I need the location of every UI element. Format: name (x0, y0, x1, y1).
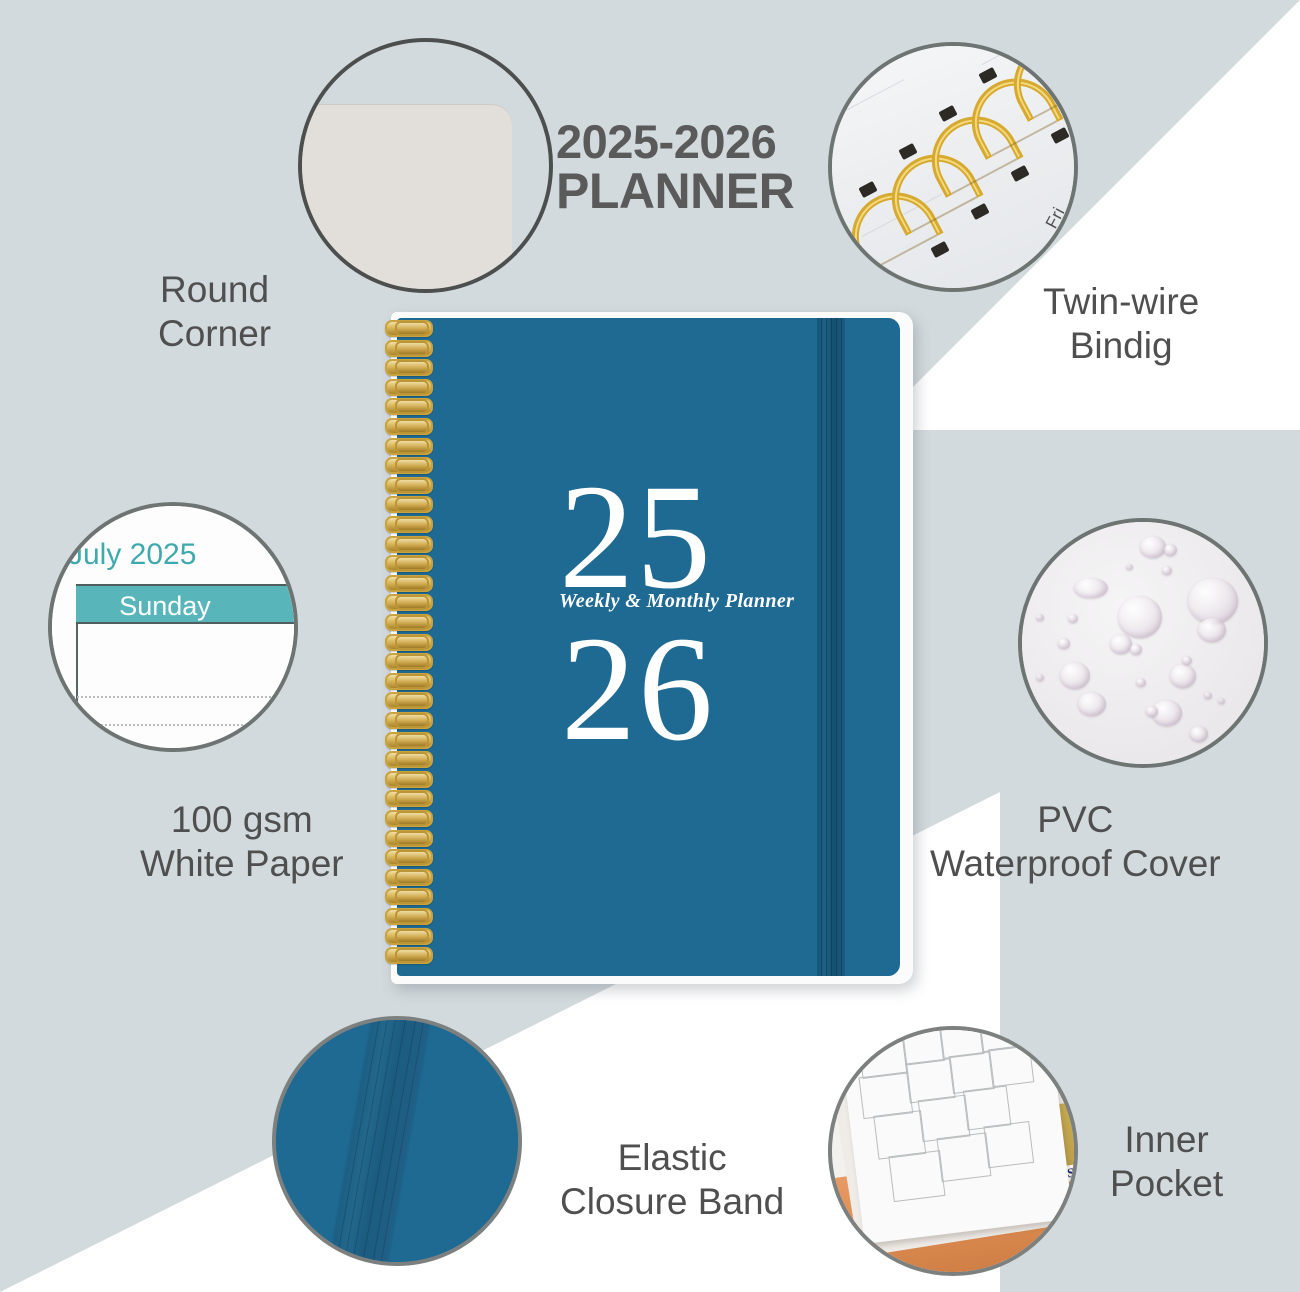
binding-coil (385, 908, 429, 921)
binding-coil (385, 418, 429, 431)
calendar-month-label: July 2025 (68, 538, 196, 572)
binding-coil (385, 692, 429, 705)
coil-inner-ring (395, 576, 429, 591)
binding-coil (385, 771, 429, 784)
coil-inner-ring (395, 831, 429, 846)
coil-inner-ring (395, 537, 429, 552)
coil-inner-ring (395, 870, 429, 885)
callout-circle-inner-pocket: VISA (828, 1026, 1078, 1276)
coil-inner-ring (395, 458, 429, 473)
coil-inner-ring (395, 497, 429, 512)
coil-inner-ring (395, 948, 429, 963)
binding-coil (385, 516, 429, 529)
binding-coil (385, 496, 429, 509)
infographic-canvas: Fri 27 July 2025 Sunday (0, 0, 1300, 1292)
coil-inner-ring (395, 909, 429, 924)
callout-circle-twin-wire-binding: Fri 27 (828, 42, 1078, 292)
binding-coil (385, 712, 429, 725)
coil-inner-ring (395, 380, 429, 395)
coil-inner-ring (395, 556, 429, 571)
binding-coil (385, 810, 429, 823)
coil-inner-ring (395, 595, 429, 610)
binding-coil (385, 614, 429, 627)
binding-coil (385, 457, 429, 470)
planner-twin-wire-binding (383, 320, 431, 974)
map-page (837, 1026, 1073, 1244)
callout-circle-round-corner (298, 38, 553, 293)
calendar-dotted-rule (62, 696, 294, 698)
coil-inner-ring (395, 772, 429, 787)
water-droplets-icon (1022, 522, 1264, 764)
calendar-page-icon: July 2025 Sunday (52, 506, 294, 748)
planner-elastic-band (817, 318, 845, 976)
coil-inner-ring (395, 419, 429, 434)
coil-inner-ring (395, 929, 429, 944)
coil-inner-ring (395, 635, 429, 650)
binding-coil (385, 438, 429, 451)
coil-inner-ring (395, 341, 429, 356)
coil-inner-ring (395, 615, 429, 630)
page-title: 2025-2026 PLANNER (556, 118, 794, 217)
binding-coil (385, 653, 429, 666)
callout-circle-elastic-closure (272, 1016, 522, 1266)
feature-label-inner-pocket: Inner Pocket (1110, 1118, 1223, 1205)
feature-label-white-paper: 100 gsm White Paper (140, 798, 344, 885)
coil-inner-ring (395, 693, 429, 708)
title-line-2: PLANNER (556, 166, 794, 217)
coil-inner-ring (395, 811, 429, 826)
feature-label-twin-wire: Twin-wire Bindig (1043, 280, 1199, 367)
binding-coil (385, 830, 429, 843)
feature-label-elastic-band: Elastic Closure Band (560, 1136, 784, 1223)
callout-circle-white-paper: July 2025 Sunday (48, 502, 298, 752)
coil-inner-ring (395, 399, 429, 414)
coil-inner-ring (395, 654, 429, 669)
binding-coil (385, 359, 429, 372)
cover-year-bottom: 26 (561, 614, 715, 764)
calendar-day-header: Sunday (76, 584, 298, 624)
binding-coil (385, 575, 429, 588)
planner-product-image: 25 Weekly & Monthly Planner 26 (383, 312, 913, 984)
coil-inner-ring (395, 517, 429, 532)
binding-coil (385, 888, 429, 901)
binding-coil (385, 340, 429, 353)
coil-inner-ring (395, 733, 429, 748)
coil-inner-ring (395, 850, 429, 865)
title-line-1: 2025-2026 (556, 118, 794, 166)
binding-coil (385, 928, 429, 941)
coil-inner-ring (395, 889, 429, 904)
binding-coil (385, 379, 429, 392)
coil-inner-ring (395, 478, 429, 493)
binding-coil (385, 790, 429, 803)
calendar-dotted-rule (78, 724, 294, 726)
callout-circle-pvc-waterproof (1018, 518, 1268, 768)
binding-coil (385, 869, 429, 882)
binding-coil (385, 732, 429, 745)
coil-inner-ring (395, 791, 429, 806)
binding-coil (385, 536, 429, 549)
coil-inner-ring (395, 360, 429, 375)
coil-inner-ring (395, 439, 429, 454)
binding-coil (385, 751, 429, 764)
binding-coil (385, 477, 429, 490)
rounded-paper-corner-icon (298, 104, 512, 293)
feature-label-round-corner: Round Corner (158, 268, 271, 355)
coil-inner-ring (395, 321, 429, 336)
coil-inner-ring (395, 713, 429, 728)
binding-coil (385, 320, 429, 333)
binding-coil (385, 594, 429, 607)
binding-coil (385, 634, 429, 647)
calendar-column-rule (76, 624, 78, 714)
coil-inner-ring (395, 752, 429, 767)
coil-inner-ring (395, 674, 429, 689)
feature-label-pvc-cover: PVC Waterproof Cover (930, 798, 1221, 885)
binding-coil (385, 849, 429, 862)
binding-coil (385, 555, 429, 568)
binding-coil (385, 398, 429, 411)
binding-coil (385, 673, 429, 686)
binding-coil (385, 947, 429, 960)
